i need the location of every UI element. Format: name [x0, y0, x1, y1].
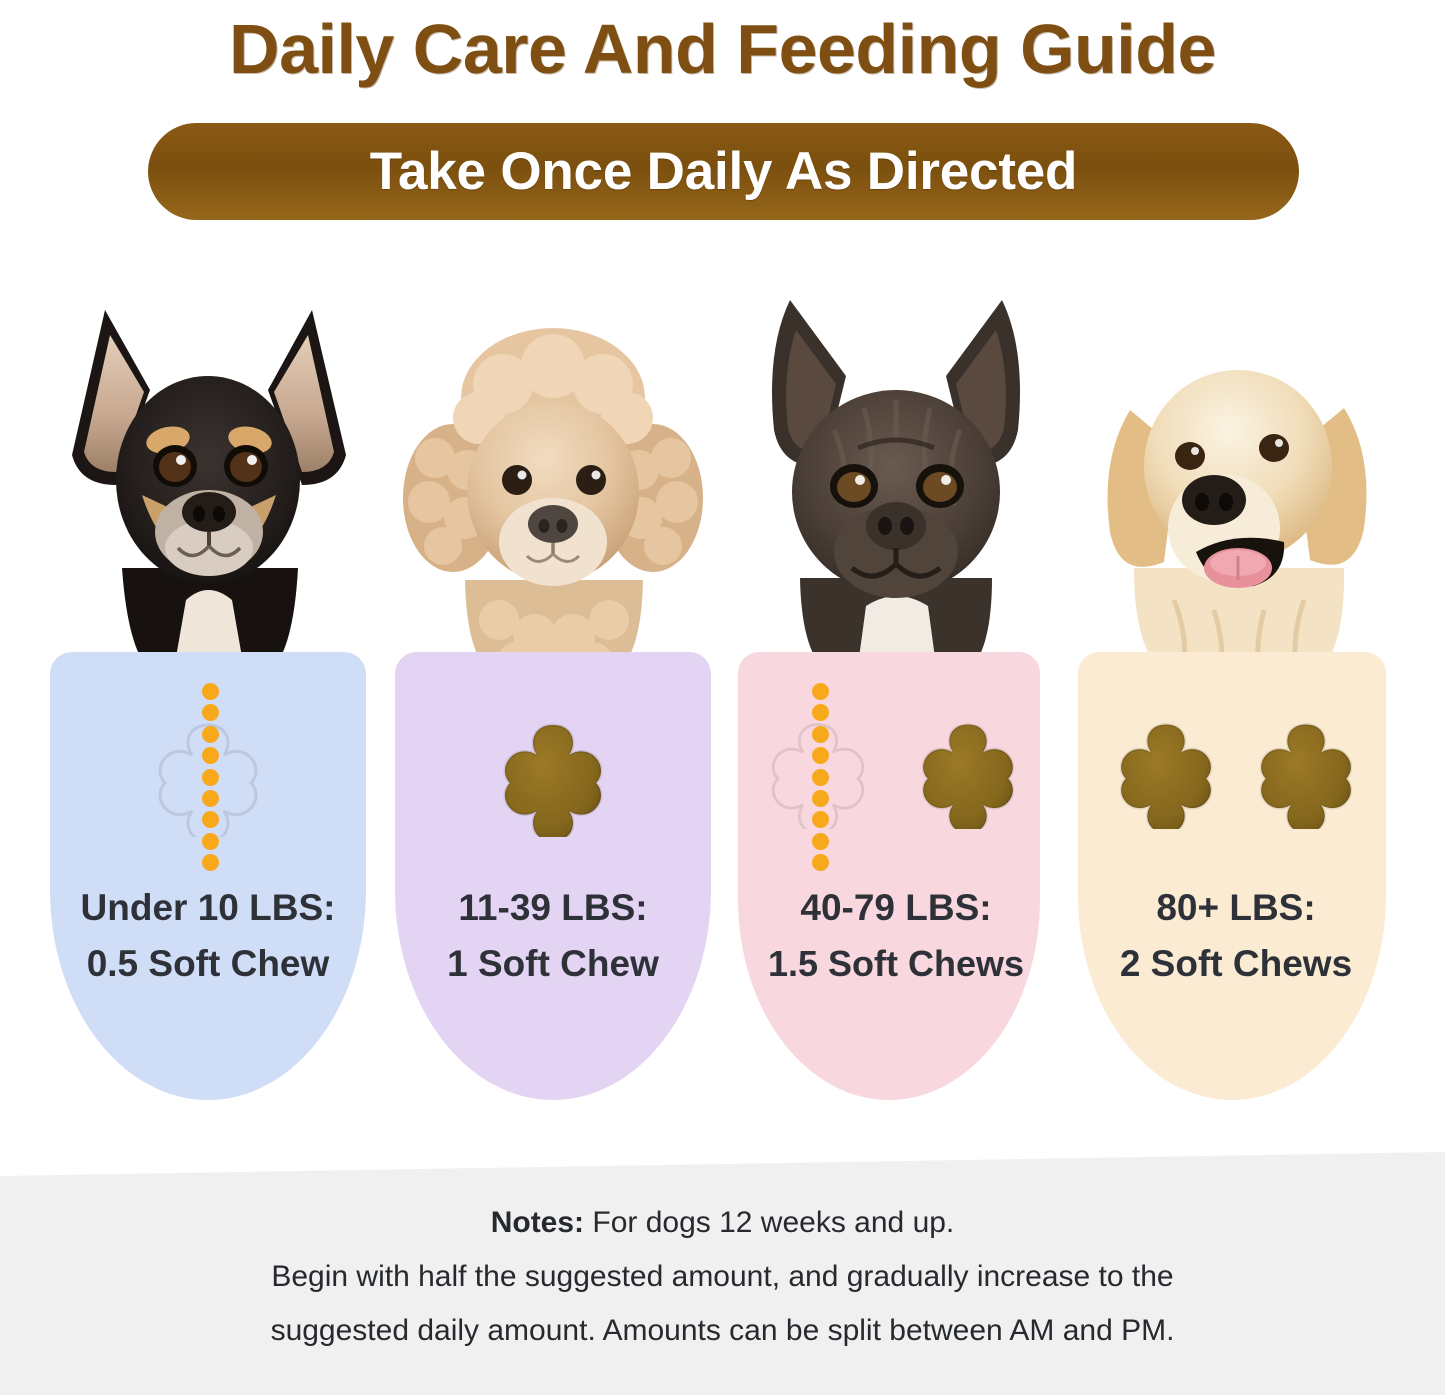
chew-group-11-39-lbs — [395, 692, 711, 862]
half-dose-split-line — [199, 683, 221, 871]
split-dot — [812, 833, 829, 850]
dosage-card-11-39-lbs[interactable]: 11-39 LBS: 1 Soft Chew — [395, 280, 711, 1110]
chew-full — [1107, 717, 1225, 837]
chew-half — [144, 717, 272, 837]
split-dot — [812, 769, 829, 786]
notes-label: Notes: — [491, 1206, 584, 1239]
feeding-guide-page: Daily Care And Feeding Guide Take Once D… — [0, 0, 1445, 1395]
dose-amount-label: 0.5 Soft Chew — [50, 936, 366, 992]
dosage-card-40-79-lbs[interactable]: 40-79 LBS: 1.5 Soft Chews — [738, 280, 1054, 1110]
split-dot — [812, 854, 829, 871]
notes-band: Notes: For dogs 12 weeks and up. Begin w… — [0, 1148, 1445, 1395]
dog-photo-chihuahua — [50, 280, 366, 680]
split-dot — [202, 704, 219, 721]
dosage-label-11-39-lbs: 11-39 LBS: 1 Soft Chew — [395, 880, 711, 992]
chew-full — [1247, 717, 1365, 837]
chew-group-80-plus-lbs — [1078, 692, 1394, 862]
dose-amount-label: 2 Soft Chews — [1078, 936, 1394, 992]
dosage-label-80-plus-lbs: 80+ LBS: 2 Soft Chews — [1078, 880, 1394, 992]
dosage-label-under-10-lbs: Under 10 LBS: 0.5 Soft Chew — [50, 880, 366, 992]
dosage-label-40-79-lbs: 40-79 LBS: 1.5 Soft Chews — [738, 880, 1054, 992]
dose-amount-label: 1.5 Soft Chews — [738, 936, 1054, 992]
split-dot — [202, 769, 219, 786]
dog-photo-french-bulldog — [738, 280, 1054, 680]
half-dose-split-line — [809, 683, 831, 871]
directions-banner: Take Once Daily As Directed — [148, 123, 1299, 220]
weight-range-label: 40-79 LBS: — [738, 880, 1054, 936]
notes-line-2: Begin with half the suggested amount, an… — [0, 1250, 1445, 1304]
split-dot — [202, 790, 219, 807]
directions-banner-text: Take Once Daily As Directed — [370, 142, 1077, 202]
split-dot — [812, 811, 829, 828]
split-dot — [202, 854, 219, 871]
split-dot — [202, 683, 219, 700]
dosage-card-under-10-lbs[interactable]: Under 10 LBS: 0.5 Soft Chew — [50, 280, 366, 1110]
chew-full — [909, 717, 1027, 837]
chew-half — [759, 717, 887, 837]
chew-group-40-79-lbs — [738, 692, 1054, 862]
notes-text-block: Notes: For dogs 12 weeks and up. Begin w… — [0, 1196, 1445, 1358]
split-dot — [812, 747, 829, 764]
split-dot — [812, 790, 829, 807]
split-dot — [202, 726, 219, 743]
split-dot — [812, 683, 829, 700]
chew-full — [494, 717, 612, 837]
split-dot — [202, 811, 219, 828]
dog-photo-poodle — [395, 280, 711, 680]
weight-range-label: 11-39 LBS: — [395, 880, 711, 936]
weight-range-label: Under 10 LBS: — [50, 880, 366, 936]
split-dot — [812, 704, 829, 721]
dosage-card-80-plus-lbs[interactable]: 80+ LBS: 2 Soft Chews — [1078, 280, 1394, 1110]
page-title: Daily Care And Feeding Guide — [0, 6, 1445, 92]
dog-photo-golden-retriever — [1078, 280, 1394, 680]
notes-line-1-rest: For dogs 12 weeks and up. — [584, 1206, 954, 1239]
chew-group-under-10-lbs — [50, 692, 366, 862]
notes-line-3: suggested daily amount. Amounts can be s… — [0, 1304, 1445, 1358]
weight-range-label: 80+ LBS: — [1078, 880, 1394, 936]
dose-amount-label: 1 Soft Chew — [395, 936, 711, 992]
dosage-card-row: Under 10 LBS: 0.5 Soft Chew — [0, 280, 1445, 1110]
notes-line-1: Notes: For dogs 12 weeks and up. — [0, 1196, 1445, 1250]
split-dot — [202, 747, 219, 764]
split-dot — [202, 833, 219, 850]
split-dot — [812, 726, 829, 743]
